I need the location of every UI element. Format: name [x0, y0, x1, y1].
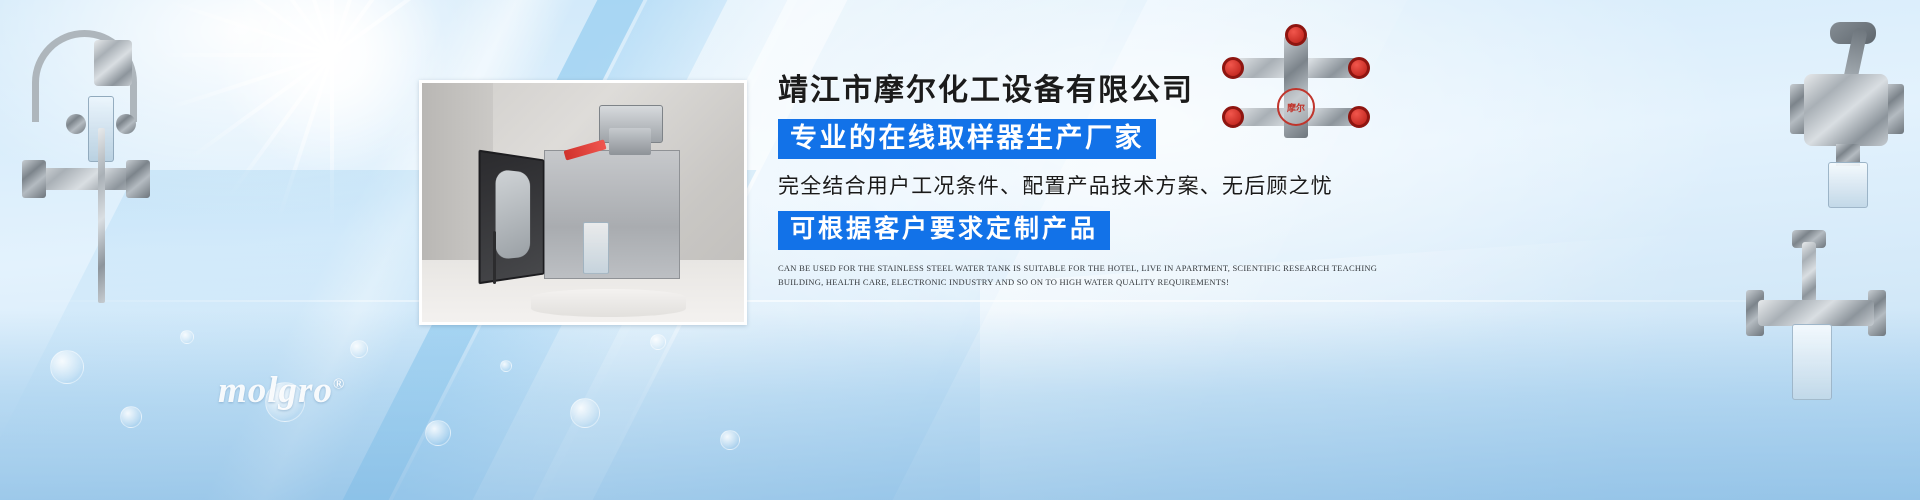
watermark-logo: molgro®: [218, 369, 345, 412]
horizon-line: [0, 300, 1920, 302]
headline-2: 可根据客户要求定制产品: [778, 211, 1110, 250]
headline-1: 专业的在线取样器生产厂家: [778, 119, 1156, 160]
equipment-inline-sampler: [1740, 228, 1890, 418]
headline-2-row: 可根据客户要求定制产品: [778, 211, 1398, 250]
company-seal: 摩尔: [1277, 88, 1315, 126]
water-bubbles: [30, 310, 790, 490]
equipment-sampler-left: [10, 18, 170, 308]
registered-mark-icon: ®: [333, 377, 345, 393]
product-photo: [419, 80, 747, 325]
equipment-lever-valve: [1790, 22, 1920, 207]
promo-banner: 靖江市摩尔化工设备有限公司 专业的在线取样器生产厂家 完全结合用户工况条件、配置…: [0, 0, 1920, 500]
sub-headline: 完全结合用户工况条件、配置产品技术方案、无后顾之忧: [778, 170, 1398, 200]
watermark-text: molgro: [218, 370, 333, 411]
english-caption: CAN BE USED FOR THE STAINLESS STEEL WATE…: [778, 262, 1378, 290]
equipment-valve-manifold: 摩尔: [1222, 30, 1372, 145]
